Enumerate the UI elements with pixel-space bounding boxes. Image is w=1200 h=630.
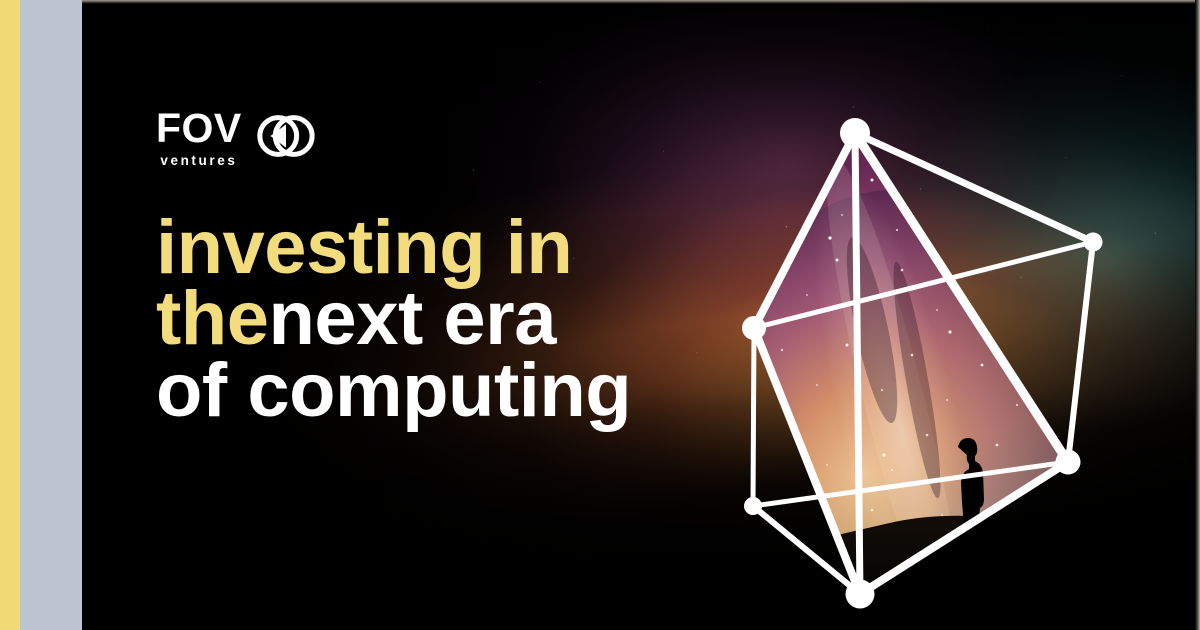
headline-line3-white: of computing — [156, 348, 631, 433]
gray-accent-stripe — [20, 0, 82, 630]
headline-line-3: of computing — [156, 355, 631, 426]
top-frame-highlight — [82, 0, 1200, 4]
headline-line-2: thenext era — [156, 283, 631, 354]
fov-ventures-logo[interactable]: FOV ventures — [156, 108, 316, 168]
yellow-accent-stripe — [0, 0, 20, 630]
headline-block: investing in thenext era of computing — [156, 212, 631, 426]
fov-overlapping-circles-icon — [254, 105, 316, 167]
logo-fov-text: FOV — [156, 108, 242, 149]
banner-canvas: FOV ventures investing in thenext era of… — [0, 0, 1200, 630]
logo-ventures-text: ventures — [160, 154, 237, 168]
headline-line-1: investing in — [156, 212, 631, 283]
logo-wordmark: FOV ventures — [156, 108, 242, 168]
right-frame-highlight — [1195, 0, 1200, 630]
